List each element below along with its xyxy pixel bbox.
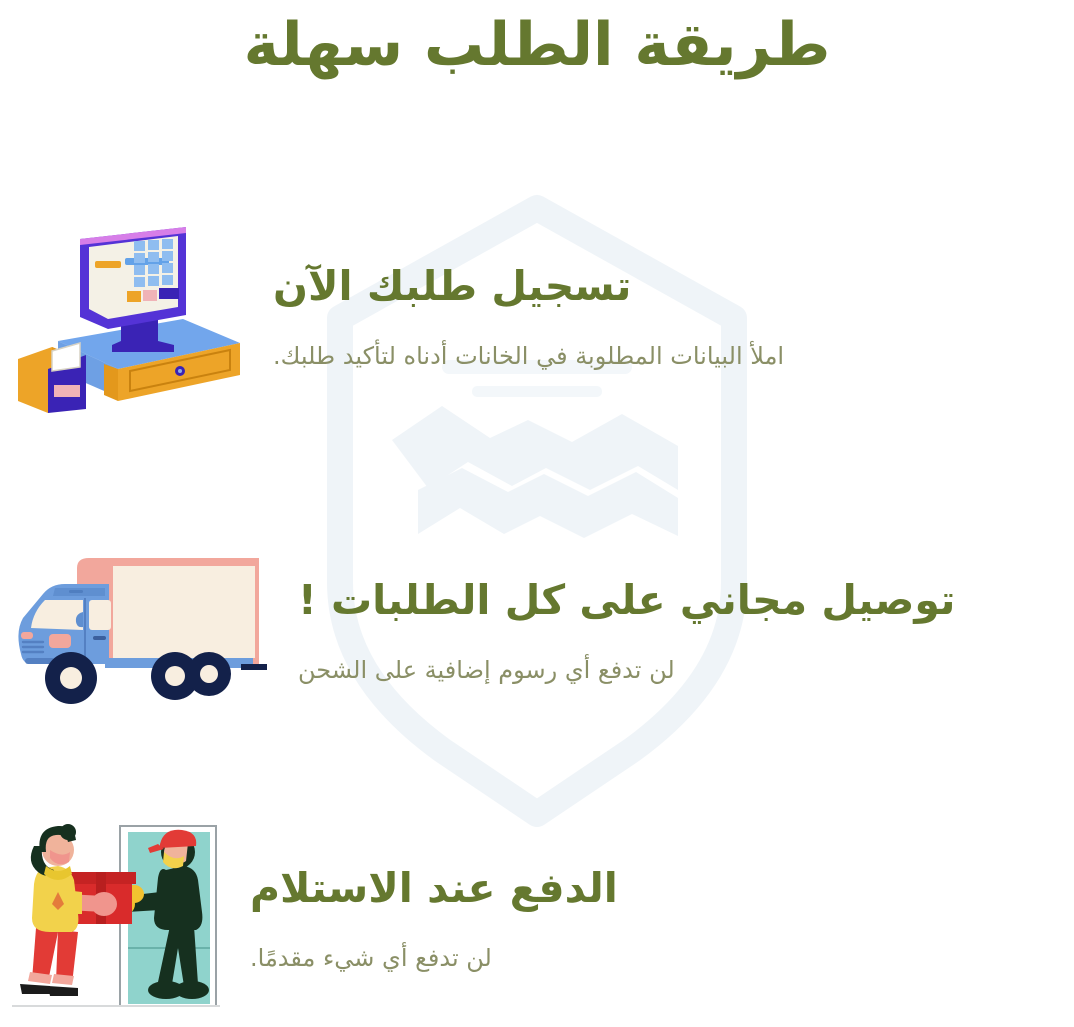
desktop-computer-order-form-illustration bbox=[8, 219, 248, 414]
feature-text-free-delivery: توصيل مجاني على كل الطلبات ! لن تدفع أي … bbox=[280, 573, 1074, 688]
promo-page: طريقة الطلب سهلة تسجيل طلبك الآن املأ ال… bbox=[0, 0, 1074, 1027]
courier-handing-package-illustration bbox=[8, 822, 224, 1014]
feature-text-register-order: تسجيل طلبك الآن املأ البيانات المطلوبة ف… bbox=[255, 259, 1074, 374]
feature-title-cash-on-delivery: الدفع عند الاستلام bbox=[250, 861, 1074, 916]
feature-title-register-order: تسجيل طلبك الآن bbox=[273, 259, 1074, 314]
delivery-truck-illustration bbox=[9, 546, 271, 714]
feature-text-cash-on-delivery: الدفع عند الاستلام لن تدفع أي شيء مقدمًا… bbox=[232, 861, 1074, 976]
feature-subtitle-register-order: املأ البيانات المطلوبة في الخانات أدناه … bbox=[273, 340, 1074, 374]
feature-art-cash-on-delivery bbox=[0, 822, 232, 1014]
feature-art-free-delivery bbox=[0, 546, 280, 714]
feature-row-register-order: تسجيل طلبك الآن املأ البيانات المطلوبة ف… bbox=[0, 228, 1074, 404]
feature-subtitle-cash-on-delivery: لن تدفع أي شيء مقدمًا. bbox=[250, 942, 1074, 976]
feature-art-register-order bbox=[0, 219, 255, 414]
page-title: طريقة الطلب سهلة bbox=[0, 8, 1074, 83]
feature-title-free-delivery: توصيل مجاني على كل الطلبات ! bbox=[298, 573, 1074, 628]
feature-subtitle-free-delivery: لن تدفع أي رسوم إضافية على الشحن bbox=[298, 654, 1074, 688]
feature-row-free-delivery: توصيل مجاني على كل الطلبات ! لن تدفع أي … bbox=[0, 540, 1074, 720]
feature-row-cash-on-delivery: الدفع عند الاستلام لن تدفع أي شيء مقدمًا… bbox=[0, 818, 1074, 1018]
